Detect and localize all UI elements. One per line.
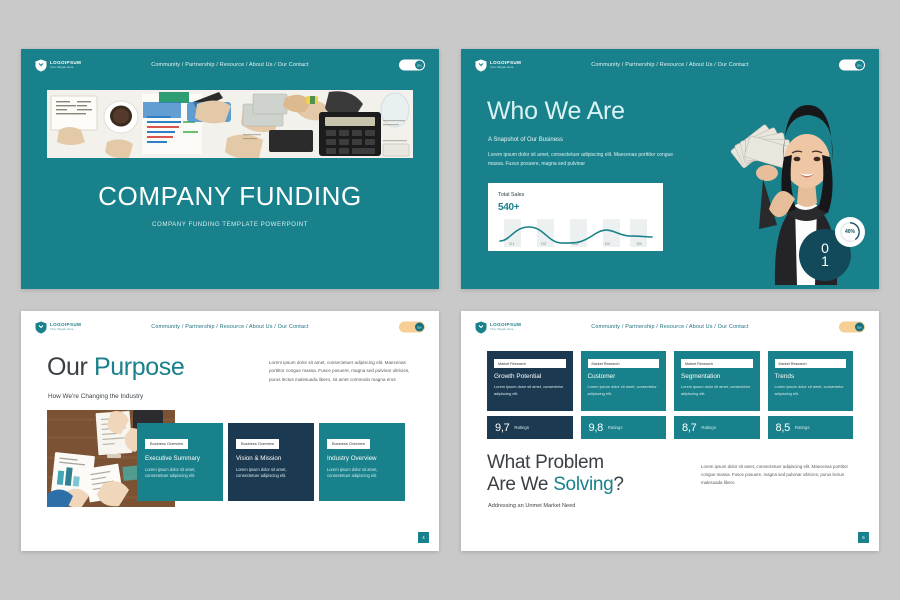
axis-tick: D1	[509, 241, 514, 246]
nav-links[interactable]: Community / Partnership / Resource / Abo…	[461, 311, 879, 343]
card-tag: Market Research	[681, 359, 753, 368]
purpose-card[interactable]: Business Overview Vision & Mission Lorem…	[228, 423, 314, 501]
logo-tagline: Your Slogan Here	[490, 67, 521, 70]
slide-4-navbar: LOGOIPSUM Your Slogan Here Community / P…	[461, 311, 879, 343]
rating-value: 9,8	[589, 422, 603, 434]
slide-4-subtitle: Addressing an Unmet Market Need	[488, 503, 575, 509]
slide-3-navbar: LOGOIPSUM Your Slogan Here Community / P…	[21, 311, 439, 343]
slide-2-who-we-are: LOGOIPSUM Your Slogan Here Community / P…	[461, 49, 879, 289]
slide-3-subtitle: How We're Changing the Industry	[48, 393, 143, 400]
logo-name: LOGOIPSUM	[490, 61, 521, 66]
language-toggle[interactable]: EN	[399, 60, 425, 71]
axis-tick: D3	[573, 241, 578, 246]
donut-value: 40%	[845, 229, 855, 235]
language-toggle-label: EN	[855, 323, 864, 332]
market-research-card-list: Market Research Growth Potential Lorem i…	[487, 351, 853, 411]
slide-3-title: Our Purpose	[47, 353, 184, 382]
card-text: Lorem ipsum dolor sit amet, consectetur …	[775, 384, 847, 397]
shield-icon	[475, 321, 487, 334]
logo[interactable]: LOGOIPSUM Your Slogan Here	[35, 321, 81, 334]
logo[interactable]: LOGOIPSUM Your Slogan Here	[475, 321, 521, 334]
shield-icon	[35, 321, 47, 334]
card-text: Lorem ipsum dolor sit amet, consectetuer…	[327, 467, 397, 481]
slide-deck: LOGOIPSUM Your Slogan Here Community / P…	[0, 0, 900, 600]
rating-label: Ratings	[514, 425, 529, 430]
logo-name: LOGOIPSUM	[490, 323, 521, 328]
logo-tagline: Your Slogan Here	[490, 329, 521, 332]
language-toggle[interactable]: EN	[839, 60, 865, 71]
sales-chart-axis: D1 D2 D3 D4 D5	[496, 241, 655, 246]
ratings-row: 9,7 Ratings 9,8 Ratings 8,7 Ratings 8,5 …	[487, 416, 853, 439]
slide-4-title: What Problem Are We Solving?	[487, 452, 624, 497]
card-text: Lorem ipsum dolor sit amet, consectetur …	[681, 384, 753, 397]
card-title: Growth Potential	[494, 373, 566, 380]
card-tag: Business Overview	[236, 439, 279, 449]
slide-1-cover: LOGOIPSUM Your Slogan Here Community / P…	[21, 49, 439, 289]
rating-value: 8,7	[682, 422, 696, 434]
card-tag: Business Overview	[145, 439, 188, 449]
page-number-badge: 4	[418, 532, 429, 543]
card-title: Vision & Mission	[236, 455, 306, 462]
axis-tick: D5	[637, 241, 642, 246]
logo-name: LOGOIPSUM	[50, 61, 81, 66]
slide-4-title-line2-first: Are We	[487, 474, 553, 495]
card-title: Executive Summary	[145, 455, 215, 462]
card-title: Industry Overview	[327, 455, 397, 462]
axis-tick: D2	[541, 241, 546, 246]
axis-tick: D4	[605, 241, 610, 246]
card-tag: Market Research	[588, 359, 660, 368]
card-title: Segmentation	[681, 373, 753, 380]
purpose-card-list: Business Overview Executive Summary Lore…	[137, 423, 405, 501]
purpose-card[interactable]: Business Overview Industry Overview Lore…	[319, 423, 405, 501]
logo-tagline: Your Slogan Here	[50, 67, 81, 70]
logo[interactable]: LOGOIPSUM Your Slogan Here	[475, 59, 521, 72]
card-tag: Market Research	[775, 359, 847, 368]
rating-chip: 8,5 Ratings	[768, 416, 854, 439]
language-toggle[interactable]: EN	[399, 322, 425, 333]
nav-links[interactable]: Community / Partnership / Resource / Abo…	[21, 311, 439, 343]
slide-4-title-highlight: Solving	[553, 474, 613, 495]
slide-4-title-line1: What Problem	[487, 452, 604, 473]
purpose-card[interactable]: Business Overview Executive Summary Lore…	[137, 423, 223, 501]
market-research-card[interactable]: Market Research Trends Lorem ipsum dolor…	[768, 351, 854, 411]
rating-label: Ratings	[795, 425, 810, 430]
slide-2-body: Lorem ipsum dolor sit amet, consectetuer…	[488, 151, 684, 169]
nav-links[interactable]: Community / Partnership / Resource / Abo…	[21, 49, 439, 81]
logo[interactable]: LOGOIPSUM Your Slogan Here	[35, 59, 81, 72]
card-text: Lorem ipsum dolor sit amet, consectetuer…	[236, 467, 306, 481]
language-toggle-label: EN	[855, 61, 864, 70]
total-sales-label: Total Sales	[498, 192, 524, 198]
percentage-donut: 40%	[835, 217, 865, 247]
market-research-card[interactable]: Market Research Growth Potential Lorem i…	[487, 351, 573, 411]
rating-label: Ratings	[701, 425, 716, 430]
card-title: Trends	[775, 373, 847, 380]
nav-links[interactable]: Community / Partnership / Resource / Abo…	[461, 49, 879, 81]
rating-chip: 9,7 Ratings	[487, 416, 573, 439]
language-toggle[interactable]: EN	[839, 322, 865, 333]
total-sales-value: 540+	[498, 202, 519, 213]
shield-icon	[35, 59, 47, 72]
slide-3-our-purpose: LOGOIPSUM Your Slogan Here Community / P…	[21, 311, 439, 551]
rating-value: 9,7	[495, 422, 509, 434]
shield-icon	[475, 59, 487, 72]
logo-name: LOGOIPSUM	[50, 323, 81, 328]
rating-chip: 8,7 Ratings	[674, 416, 760, 439]
card-title: Customer	[588, 373, 660, 380]
page-number-badge: 6	[858, 532, 869, 543]
card-text: Lorem ipsum dolor sit amet, consectetuer…	[145, 467, 215, 481]
slide-4-title-line2-last: ?	[613, 474, 623, 495]
market-research-card[interactable]: Market Research Customer Lorem ipsum dol…	[581, 351, 667, 411]
rating-value: 8,5	[776, 422, 790, 434]
slide-3-title-first: Our	[47, 353, 94, 381]
slide-1-subtitle: COMPANY FUNDING TEMPLATE POWERPOINT	[21, 221, 439, 228]
total-sales-card: Total Sales 540+ D1 D2 D3 D4 D5	[488, 183, 663, 251]
language-toggle-label: EN	[415, 61, 424, 70]
slide-2-navbar: LOGOIPSUM Your Slogan Here Community / P…	[461, 49, 879, 81]
slide-2-subtitle: A Snapshot of Our Business	[488, 137, 563, 143]
rating-chip: 9,8 Ratings	[581, 416, 667, 439]
cover-image	[47, 90, 413, 158]
slide-4-what-problem: LOGOIPSUM Your Slogan Here Community / P…	[461, 311, 879, 551]
slide-1-navbar: LOGOIPSUM Your Slogan Here Community / P…	[21, 49, 439, 81]
slide-3-title-highlight: Purpose	[94, 353, 184, 381]
badge-digit-bottom: 1	[821, 255, 829, 268]
logo-tagline: Your Slogan Here	[50, 329, 81, 332]
slide-2-title: Who We Are	[487, 97, 625, 126]
slide-3-body: Lorem ipsum dolor sit amet, consectetuer…	[269, 359, 417, 384]
slide-4-body: Lorem ipsum dolor sit amet, consectetuer…	[701, 463, 857, 487]
rating-label: Ratings	[608, 425, 623, 430]
language-toggle-label: EN	[415, 323, 424, 332]
slide-1-title: COMPANY FUNDING	[21, 181, 439, 212]
card-text: Lorem ipsum dolor sit amet, consectetur …	[588, 384, 660, 397]
card-tag: Market Research	[494, 359, 566, 368]
market-research-card[interactable]: Market Research Segmentation Lorem ipsum…	[674, 351, 760, 411]
card-text: Lorem ipsum dolor sit amet, consectetur …	[494, 384, 566, 397]
card-tag: Business Overview	[327, 439, 370, 449]
